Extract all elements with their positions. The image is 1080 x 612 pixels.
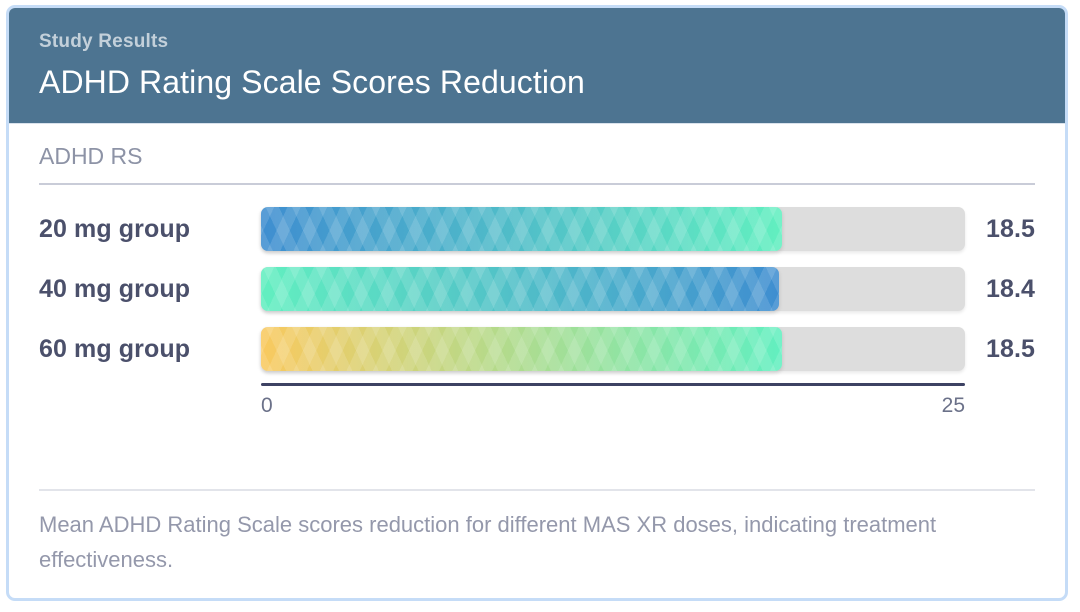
card-body: ADHD RS 20 mg group 18.5 40 mg group: [9, 124, 1065, 598]
axis-tick-labels: 0 25: [261, 386, 965, 418]
bar-category-label: 20 mg group: [39, 215, 261, 244]
header-eyebrow: Study Results: [39, 32, 1035, 53]
bar-fill: [261, 267, 779, 311]
card-footer: Mean ADHD Rating Scale scores reduction …: [39, 489, 1035, 598]
chevron-pattern-alt-icon: [261, 207, 782, 251]
chart-card: Study Results ADHD Rating Scale Scores R…: [6, 5, 1068, 601]
table-row: 60 mg group 18.5: [39, 319, 1035, 379]
horizontal-bar-chart: 20 mg group 18.5 40 mg group: [39, 199, 1035, 418]
section-divider: [39, 183, 1035, 185]
axis-tick-max: 25: [942, 394, 965, 418]
page-title: ADHD Rating Scale Scores Reduction: [39, 65, 1035, 101]
axis-tick-min: 0: [261, 394, 273, 418]
chevron-pattern-alt-icon: [261, 267, 779, 311]
axis-area: 0 25: [261, 383, 965, 418]
chevron-pattern-alt-icon: [261, 327, 782, 371]
bar-category-label: 40 mg group: [39, 275, 261, 304]
section-label: ADHD RS: [39, 144, 1035, 183]
chart-caption: Mean ADHD Rating Scale scores reduction …: [39, 507, 999, 578]
table-row: 40 mg group 18.4: [39, 259, 1035, 319]
bar-track-wrapper: [261, 267, 949, 311]
bar-fill: [261, 207, 782, 251]
table-row: 20 mg group 18.5: [39, 199, 1035, 259]
chart-axis: 0 25: [39, 383, 1035, 418]
card-header: Study Results ADHD Rating Scale Scores R…: [9, 8, 1065, 124]
bar-track-wrapper: [261, 207, 949, 251]
bar-fill: [261, 327, 782, 371]
bar-track-wrapper: [261, 327, 949, 371]
footer-divider: [39, 489, 1035, 491]
bar-category-label: 60 mg group: [39, 335, 261, 364]
